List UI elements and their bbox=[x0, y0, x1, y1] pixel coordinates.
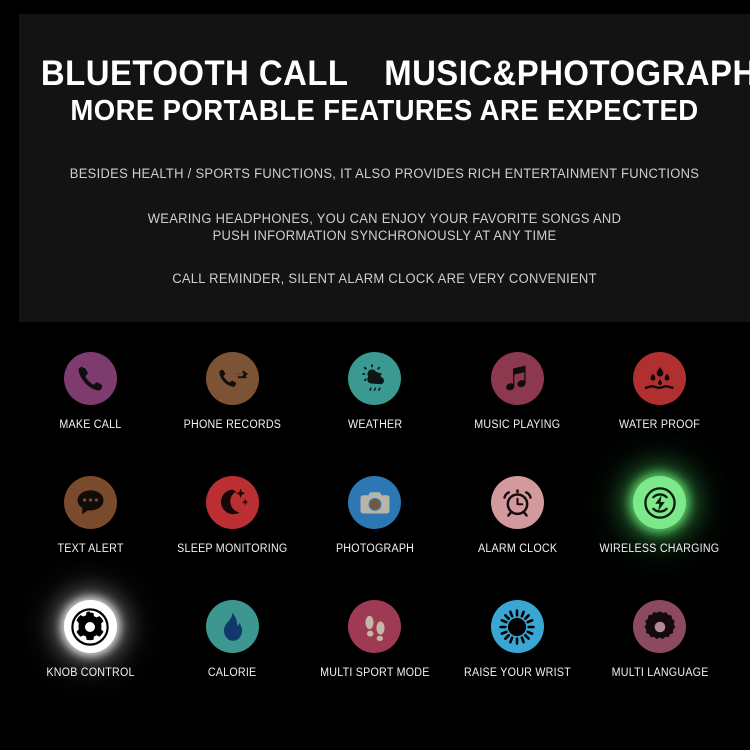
feature-label: PHONE RECORDS bbox=[184, 419, 282, 431]
feature-item-water-proof[interactable]: WATER PROOF bbox=[589, 352, 731, 476]
multi-language-badge[interactable] bbox=[633, 600, 686, 653]
hero-title-part-1: BLUETOOTH CALL bbox=[41, 54, 349, 93]
gear-language-icon bbox=[642, 609, 678, 645]
feature-label: MUSIC PLAYING bbox=[474, 419, 560, 431]
radiating-dashes-icon bbox=[499, 609, 535, 645]
feature-grid: MAKE CALL PHONE RECORDS bbox=[19, 352, 731, 724]
feature-item-wireless-charging[interactable]: WIRELESS CHARGING bbox=[589, 476, 731, 600]
feature-label: SLEEP MONITORING bbox=[177, 543, 287, 555]
hero-title-line-1: BLUETOOTH CALLMUSIC&PHOTOGRAPH bbox=[41, 56, 728, 93]
feature-item-alarm-clock[interactable]: ALARM CLOCK bbox=[446, 476, 588, 600]
feature-label: ALARM CLOCK bbox=[478, 543, 557, 555]
sleep-monitoring-badge[interactable] bbox=[206, 476, 259, 529]
feature-label: PHOTOGRAPH bbox=[336, 543, 414, 555]
calorie-badge[interactable] bbox=[206, 600, 259, 653]
feature-item-sleep-monitoring[interactable]: SLEEP MONITORING bbox=[161, 476, 303, 600]
alarm-clock-badge[interactable] bbox=[491, 476, 544, 529]
hero-title-group: BLUETOOTH CALLMUSIC&PHOTOGRAPH MORE PORT… bbox=[19, 56, 750, 130]
feature-item-multi-language[interactable]: MULTI LANGUAGE bbox=[589, 600, 731, 724]
feature-item-text-alert[interactable]: TEXT ALERT bbox=[19, 476, 161, 600]
feature-item-knob-control[interactable]: KNOB CONTROL bbox=[19, 600, 161, 724]
feature-item-raise-your-wrist[interactable]: RAISE YOUR WRIST bbox=[446, 600, 588, 724]
music-playing-badge[interactable] bbox=[491, 352, 544, 405]
sun-cloud-rain-icon bbox=[358, 363, 392, 395]
feature-item-calorie[interactable]: CALORIE bbox=[161, 600, 303, 724]
feature-label: WIRELESS CHARGING bbox=[600, 543, 720, 555]
phone-records-badge[interactable] bbox=[206, 352, 259, 405]
feature-label: KNOB CONTROL bbox=[46, 667, 134, 679]
hero-title-part-2: MUSIC&PHOTOGRAPH bbox=[384, 54, 750, 93]
speech-bubble-icon bbox=[74, 487, 107, 518]
footprints-icon bbox=[360, 611, 390, 643]
weather-badge[interactable] bbox=[348, 352, 401, 405]
moon-stars-icon bbox=[216, 487, 250, 519]
feature-item-make-call[interactable]: MAKE CALL bbox=[19, 352, 161, 476]
feature-label: TEXT ALERT bbox=[57, 543, 123, 555]
raise-your-wrist-badge[interactable] bbox=[491, 600, 544, 653]
feature-poster: BLUETOOTH CALLMUSIC&PHOTOGRAPH MORE PORT… bbox=[0, 0, 750, 750]
hero-paragraph-2: WEARING HEADPHONES, YOU CAN ENJOY YOUR F… bbox=[34, 211, 736, 228]
feature-item-phone-records[interactable]: PHONE RECORDS bbox=[161, 352, 303, 476]
feature-label: MULTI LANGUAGE bbox=[611, 667, 708, 679]
make-call-badge[interactable] bbox=[64, 352, 117, 405]
multi-sport-mode-badge[interactable] bbox=[348, 600, 401, 653]
alarm-clock-icon bbox=[501, 486, 534, 519]
wireless-charging-bolt-icon bbox=[642, 485, 678, 521]
feature-label: CALORIE bbox=[208, 667, 257, 679]
water-proof-badge[interactable] bbox=[633, 352, 686, 405]
music-note-icon bbox=[503, 364, 531, 394]
photograph-badge[interactable] bbox=[348, 476, 401, 529]
phone-call-log-icon bbox=[217, 364, 249, 394]
hero-body-group: BESIDES HEALTH / SPORTS FUNCTIONS, IT AL… bbox=[19, 166, 750, 288]
feature-label: WEATHER bbox=[348, 419, 402, 431]
feature-label: WATER PROOF bbox=[619, 419, 700, 431]
phone-handset-icon bbox=[75, 364, 105, 394]
wireless-charging-badge[interactable] bbox=[633, 476, 686, 529]
hero-paragraph-3: PUSH INFORMATION SYNCHRONOUSLY AT ANY TI… bbox=[34, 228, 736, 245]
hero-paragraph-1: BESIDES HEALTH / SPORTS FUNCTIONS, IT AL… bbox=[34, 166, 736, 183]
text-alert-badge[interactable] bbox=[64, 476, 117, 529]
water-droplets-icon bbox=[643, 364, 677, 394]
camera-icon bbox=[358, 489, 392, 517]
feature-item-music-playing[interactable]: MUSIC PLAYING bbox=[446, 352, 588, 476]
paragraph-spacer-2 bbox=[19, 245, 750, 271]
feature-label: RAISE YOUR WRIST bbox=[464, 667, 571, 679]
knob-control-badge[interactable] bbox=[64, 600, 117, 653]
paragraph-spacer-1 bbox=[19, 183, 750, 211]
hero-title-line-2: MORE PORTABLE FEATURES ARE EXPECTED bbox=[37, 93, 731, 130]
feature-item-multi-sport-mode[interactable]: MULTI SPORT MODE bbox=[304, 600, 446, 724]
feature-label: MULTI SPORT MODE bbox=[320, 667, 430, 679]
hero-paragraph-4: CALL REMINDER, SILENT ALARM CLOCK ARE VE… bbox=[34, 271, 736, 288]
feature-item-photograph[interactable]: PHOTOGRAPH bbox=[304, 476, 446, 600]
hero-panel: BLUETOOTH CALLMUSIC&PHOTOGRAPH MORE PORT… bbox=[19, 14, 750, 322]
feature-label: MAKE CALL bbox=[59, 419, 121, 431]
gear-knob-icon bbox=[70, 607, 110, 647]
feature-item-weather[interactable]: WEATHER bbox=[304, 352, 446, 476]
flame-icon bbox=[220, 611, 246, 643]
